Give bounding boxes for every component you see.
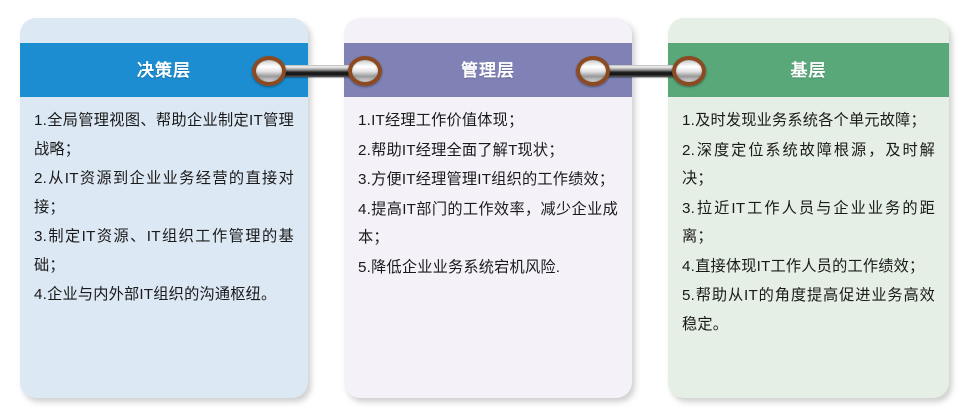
list-item: 1.全局管理视图、帮助企业制定IT管理战略； [34, 107, 294, 164]
card-base-title: 基层 [791, 62, 827, 79]
list-item: 2.深度定位系统故障根源，及时解决； [682, 137, 935, 194]
list-item: 4.直接体现IT工作人员的工作绩效； [682, 253, 935, 282]
list-item: 3.拉近IT工作人员与企业业务的距离； [682, 195, 935, 252]
card-base-layer[interactable]: 基层 1.及时发现业务系统各个单元故障； 2.深度定位系统故障根源，及时解决； … [668, 18, 949, 398]
diagram-canvas: 决策层 1.全局管理视图、帮助企业制定IT管理战略； 2.从IT资源到企业业务经… [0, 0, 960, 416]
connector-ring-right-icon [672, 56, 706, 86]
connector-ring-left-icon [252, 56, 286, 86]
list-item: 4.企业与内外部IT组织的沟通枢纽。 [34, 281, 294, 310]
card-base-body: 1.及时发现业务系统各个单元故障； 2.深度定位系统故障根源，及时解决； 3.拉… [668, 97, 949, 398]
list-item: 3.方便IT经理管理IT组织的工作绩效； [358, 166, 618, 195]
list-item: 2.帮助IT经理全面了解T现状； [358, 137, 618, 166]
card-management-body: 1.IT经理工作价值体现； 2.帮助IT经理全面了解T现状； 3.方便IT经理管… [344, 97, 632, 398]
list-item: 5.降低企业业务系统宕机风险. [358, 254, 618, 283]
list-item: 4.提高IT部门的工作效率，减少企业成本； [358, 196, 618, 253]
connector-ring-right-icon [348, 56, 382, 86]
connector-management-to-base [576, 56, 706, 86]
list-item: 2.从IT资源到企业业务经营的直接对接； [34, 165, 294, 222]
list-item: 1.IT经理工作价值体现； [358, 107, 618, 136]
list-item: 5.帮助从IT的角度提高促进业务高效稳定。 [682, 282, 935, 339]
card-base-header-band: 基层 [668, 43, 949, 97]
list-item: 3.制定IT资源、IT组织工作管理的基础； [34, 223, 294, 280]
connector-ring-left-icon [576, 56, 610, 86]
list-item: 1.及时发现业务系统各个单元故障； [682, 107, 935, 136]
card-decision-title: 决策层 [137, 62, 191, 79]
card-decision-body: 1.全局管理视图、帮助企业制定IT管理战略； 2.从IT资源到企业业务经营的直接… [20, 97, 308, 398]
connector-decision-to-management [252, 56, 382, 86]
card-management-title: 管理层 [461, 62, 515, 79]
